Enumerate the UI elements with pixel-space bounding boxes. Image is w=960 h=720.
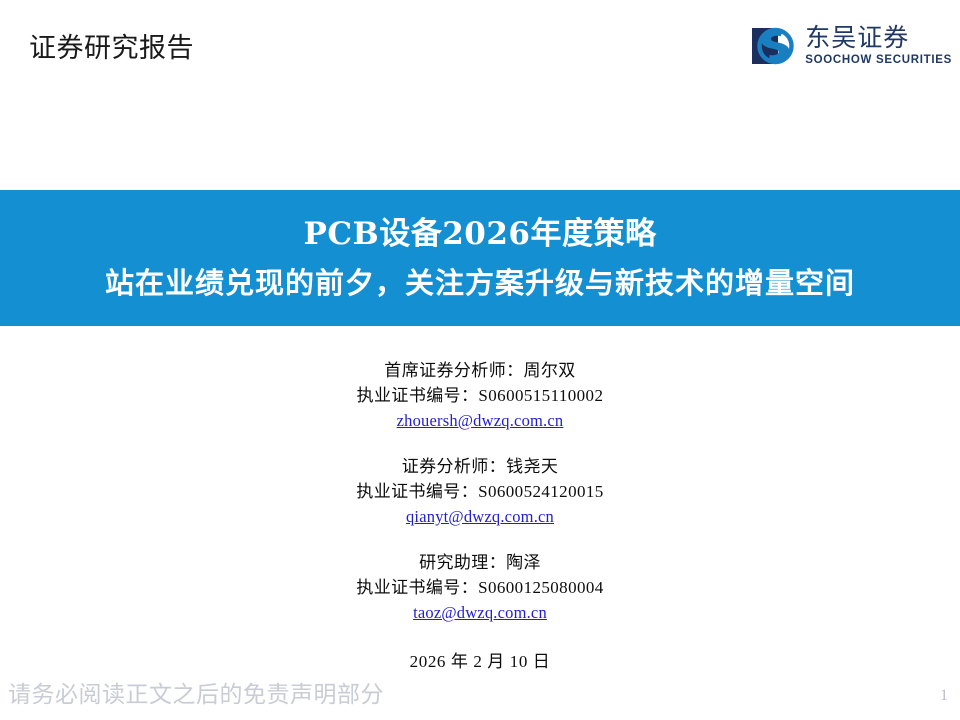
analyst-role-name: 研究助理：陶泽 [0, 550, 960, 575]
analyst-license-number: 执业证书编号：S0600515110002 [0, 383, 960, 408]
analyst-role-name: 首席证券分析师：周尔双 [0, 358, 960, 383]
analyst-email-link[interactable]: qianyt@dwzq.com.cn [406, 504, 554, 529]
company-logo: 东吴证券 SOOCHOW SECURITIES [752, 26, 952, 67]
report-title: PCB设备2026年度策略 [304, 214, 657, 254]
disclaimer-note: 请务必阅读正文之后的免责声明部分 [8, 679, 384, 709]
page-number: 1 [940, 686, 948, 706]
report-cover-slide: 证券研究报告 东吴证券 SOOCHOW SECURITIES PCB设备2026… [0, 0, 960, 720]
analyst-block: 证券分析师：钱尧天 执业证书编号：S0600524120015 qianyt@d… [0, 454, 960, 529]
logo-company-name-cn: 东吴证券 [805, 26, 952, 51]
analyst-license-number: 执业证书编号：S0600524120015 [0, 479, 960, 504]
analyst-role-name: 证券分析师：钱尧天 [0, 454, 960, 479]
report-type-label: 证券研究报告 [29, 31, 194, 65]
analyst-email-link[interactable]: zhouersh@dwzq.com.cn [397, 408, 564, 433]
analyst-block: 研究助理：陶泽 执业证书编号：S0600125080004 taoz@dwzq.… [0, 550, 960, 625]
analyst-block: 首席证券分析师：周尔双 执业证书编号：S0600515110002 zhouer… [0, 358, 960, 433]
soochow-securities-logo-mark [752, 26, 796, 66]
report-date: 2026 年 2 月 10 日 [0, 649, 960, 674]
title-banner: PCB设备2026年度策略 站在业绩兑现的前夕，关注方案升级与新技术的增量空间 [0, 190, 960, 326]
logo-wordmark: 东吴证券 SOOCHOW SECURITIES [805, 26, 952, 67]
report-subtitle: 站在业绩兑现的前夕，关注方案升级与新技术的增量空间 [105, 264, 855, 302]
analyst-license-number: 执业证书编号：S0600125080004 [0, 575, 960, 600]
slide-header: 证券研究报告 东吴证券 SOOCHOW SECURITIES [0, 0, 960, 100]
analyst-email-link[interactable]: taoz@dwzq.com.cn [413, 600, 547, 625]
analyst-credits: 首席证券分析师：周尔双 执业证书编号：S0600515110002 zhouer… [0, 358, 960, 674]
logo-company-name-en: SOOCHOW SECURITIES [805, 55, 952, 67]
